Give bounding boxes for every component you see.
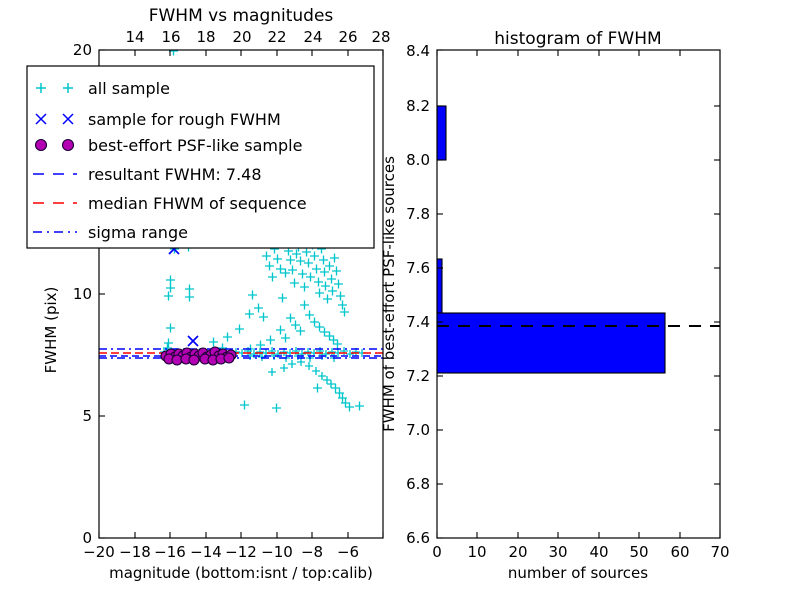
left-panel-title: FWHM vs magnitudes — [149, 6, 334, 26]
y-tick-label: 7.0 — [406, 421, 430, 439]
x-tick-label: −16 — [154, 543, 186, 561]
y-tick-label: 7.8 — [406, 205, 430, 223]
left-panel-x-tick-labels: −20 −18 −16 −14 −12 −10 −8 −6 — [83, 543, 359, 561]
x-tick-label: 0 — [432, 543, 442, 561]
x-tick-label: −8 — [301, 543, 323, 561]
top-tick-label: 16 — [161, 28, 180, 46]
psf-like-sample-points — [161, 347, 236, 365]
x-tick-label: 30 — [548, 543, 567, 561]
y-tick-label: 7.4 — [406, 313, 430, 331]
x-tick-label: −6 — [337, 543, 359, 561]
y-tick-label: 8.4 — [406, 42, 430, 60]
y-tick-label: 10 — [73, 285, 92, 303]
top-tick-label: 18 — [196, 28, 215, 46]
x-tick-label: 10 — [467, 543, 486, 561]
legend-label: sample for rough FWHM — [88, 110, 281, 129]
right-panel-ylabel: FWHM of best-effort PSF-like sources — [380, 156, 398, 432]
top-tick-label: 20 — [232, 28, 251, 46]
legend-label: median FHWM of sequence — [88, 194, 307, 213]
legend-label: best-effort PSF-like sample — [88, 136, 302, 155]
y-tick-label: 20 — [73, 41, 92, 59]
top-tick-label: 28 — [371, 28, 390, 46]
x-tick-label: −18 — [119, 543, 151, 561]
y-tick-label: 6.8 — [406, 475, 430, 493]
x-tick-label: 60 — [670, 543, 689, 561]
y-tick-label: 8.2 — [406, 97, 430, 115]
histogram-bar[interactable] — [437, 313, 665, 373]
top-tick-label: 26 — [338, 28, 357, 46]
legend-label: resultant FWHM: 7.48 — [88, 165, 262, 184]
top-tick-label: 24 — [303, 28, 322, 46]
y-tick-label: 0 — [82, 529, 92, 547]
y-tick-label: 6.6 — [406, 529, 430, 547]
histogram-bar[interactable] — [437, 259, 442, 313]
right-panel-xlabel: number of sources — [508, 564, 648, 582]
x-tick-label: −10 — [261, 543, 293, 561]
matplotlib-figure: FWHM vs magnitudes 14 16 18 20 22 24 26 … — [0, 0, 800, 600]
left-panel-ylabel: FWHM (pix) — [42, 287, 60, 374]
x-tick-label: 70 — [710, 543, 729, 561]
legend-box — [27, 66, 374, 248]
legend-label: all sample — [88, 79, 170, 98]
right-panel-title: histogram of FWHM — [494, 29, 661, 49]
histogram-bar[interactable] — [437, 106, 446, 160]
x-tick-label: −14 — [190, 543, 222, 561]
top-tick-label: 14 — [125, 28, 144, 46]
x-tick-label: −12 — [225, 543, 257, 561]
y-tick-label: 7.2 — [406, 367, 430, 385]
x-tick-label: 50 — [629, 543, 648, 561]
y-tick-label: 5 — [82, 407, 92, 425]
legend: all sample sample for rough FWHM — [27, 66, 374, 248]
y-tick-label: 8.0 — [406, 151, 430, 169]
top-tick-label: 22 — [267, 28, 286, 46]
x-tick-label: 40 — [589, 543, 608, 561]
legend-label: sigma range — [88, 223, 188, 242]
y-tick-label: 7.6 — [406, 259, 430, 277]
left-panel-xlabel: magnitude (bottom:isnt / top:calib) — [109, 564, 373, 582]
x-tick-label: 20 — [508, 543, 527, 561]
